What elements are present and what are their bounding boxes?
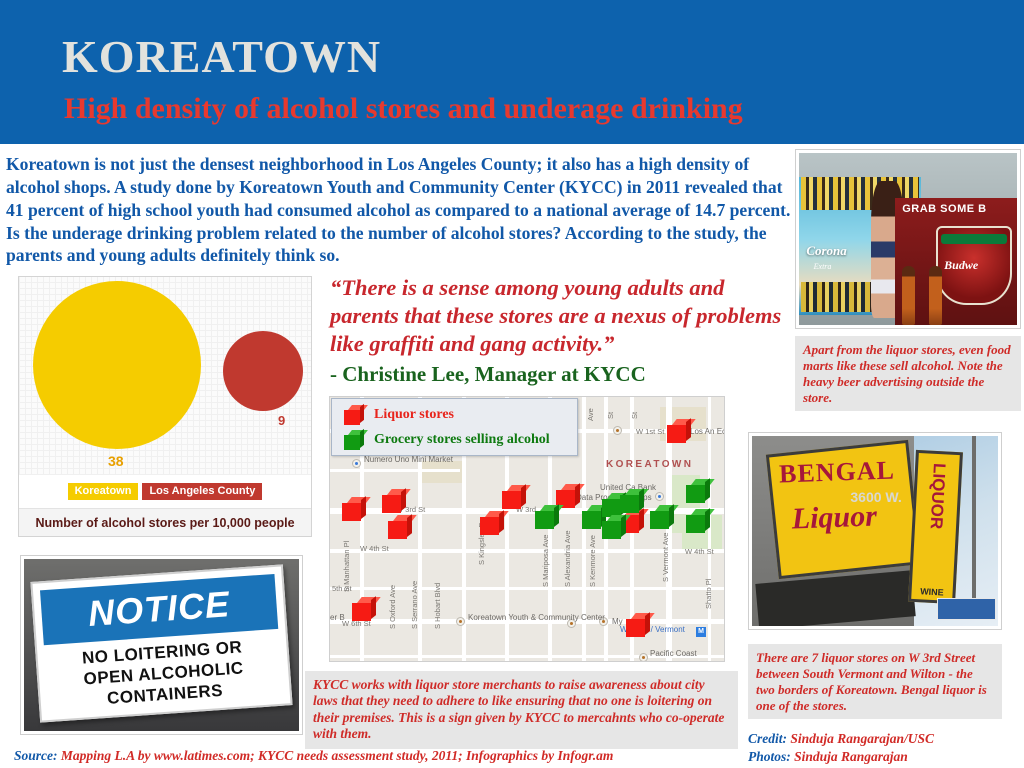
alcohol-stores-bubble-chart: 38 9 Koreatown Los Angeles County Number… [18,276,312,537]
sign-pole [972,436,976,599]
map-marker-liquor-store[interactable] [388,515,412,539]
photo-caption-bengal: There are 7 liquor stores on W 3rd Stree… [748,644,1002,719]
map-legend: Liquor stores Grocery stores selling alc… [331,398,578,456]
beer-bottle [929,266,942,325]
notice-sign-lines: NO LOITERING OR OPEN ALCOHOLIC CONTAINER… [44,631,282,716]
photo-caption-beer: Apart from the liquor stores, even food … [795,336,1021,411]
credit-block: Credit: Sinduja Rangarajan/USC Photos: S… [748,730,934,766]
metro-station-badge[interactable]: M [696,627,706,637]
credit-line: Credit: Sinduja Rangarajan/USC [748,730,934,748]
map-marker-liquor-store[interactable] [626,613,650,637]
map-street-label-s-vermont-ave: S Vermont Ave [661,533,670,582]
map-legend-item-grocery: Grocery stores selling alcohol [344,430,550,450]
map-marker-grocery-store[interactable] [650,505,674,529]
map-street-label-ave: Ave [586,408,595,421]
photo-beer-advertising: Corona Extra GRAB SOME B Budwe [795,149,1021,329]
map-poi-label-numero-uno: Numero Uno Mini Market [364,455,453,464]
map-legend-item-liquor: Liquor stores [344,405,454,425]
photos-credit-line: Photos: Sinduja Rangarajan [748,748,934,766]
intro-paragraph: Koreatown is not just the densest neighb… [6,153,792,267]
bubble-los-angeles-county [223,331,303,411]
chart-legend: Koreatown Los Angeles County [19,477,311,505]
bubble-value-los-angeles-county: 9 [278,413,285,428]
map-poi-dot[interactable] [655,492,664,501]
map-marker-liquor-store[interactable] [382,489,406,513]
map-poi-label-er-b: er B [330,613,345,622]
map-street-label-s-kenmore-ave: S Kenmore Ave [588,535,597,587]
map-road [330,469,460,472]
map-street-label-w-4th-st: W 4th St [360,544,389,553]
photo-notice-sign: NOTICE NO LOITERING OR OPEN ALCOHOLIC CO… [20,555,303,735]
map-marker-grocery-store[interactable] [686,509,710,533]
photos-credit-text: Sinduja Rangarajan [791,749,908,764]
map-poi-dot[interactable] [613,426,622,435]
map-legend-label-grocery: Grocery stores selling alcohol [374,432,550,448]
budweiser-wordmark: Budwe [944,258,978,273]
photo-bengal-liquor: BENGAL Liquor 3600 W. LIQUOR WINE [748,432,1002,630]
budweiser-billboard: GRAB SOME B Budwe [895,198,1017,325]
map-poi-label-pacific-coast: Pacific Coast [650,649,697,658]
budweiser-shield-logo: Budwe [936,226,1012,305]
bubble-koreatown [33,281,201,449]
map-poi-label-kycc: Koreatown Youth & Community Center [468,613,605,622]
map-street-label-shatto-pl: Shatto Pl [704,579,713,609]
chart-legend-item-koreatown: Koreatown [68,483,139,500]
map-street-label-s-manhattan-pl: S Manhattan Pl [342,541,351,592]
map-street-label-w-1st-st: W 1st St [636,427,664,436]
page-subtitle: High density of alcohol stores and under… [64,92,743,126]
credit-label: Credit: [748,731,787,746]
map-road-s-mariposa-ave [582,397,586,662]
map-marker-liquor-store[interactable] [342,497,366,521]
map-block-tan [422,461,464,483]
bengal-liquor-sign: BENGAL Liquor [766,440,921,580]
credit-text: Sinduja Rangarajan/USC [787,731,934,746]
chart-caption: Number of alcohol stores per 10,000 peop… [19,508,311,536]
map-neighborhood-label: KOREATOWN [606,459,693,470]
map-poi-label-los-angeles-eco-village: Los An Eco-Vi [690,427,725,436]
source-label: Source: [14,748,58,763]
map-poi-dot[interactable] [456,617,465,626]
header-banner: KOREATOWN High density of alcohol stores… [0,0,1024,144]
photo-notice-image: NOTICE NO LOITERING OR OPEN ALCOHOLIC CO… [24,559,299,731]
map-street-label-s-hobart-blvd: S Hobart Blvd [433,583,442,629]
map-street-label-st: St [606,412,615,419]
beer-bottle [902,266,915,325]
quote-text: “There is a sense among young adults and… [330,274,790,358]
chart-plot-area: 38 9 [19,277,311,475]
map-poi-dot[interactable] [352,459,361,468]
photo-bengal-image: BENGAL Liquor 3600 W. LIQUOR WINE [752,436,998,626]
source-text: Mapping L.A by www.latimes.com; KYCC nee… [58,748,614,763]
street-name-sign [937,598,996,621]
map-marker-liquor-store[interactable] [352,597,376,621]
map-marker-grocery-store[interactable] [602,515,626,539]
pull-quote: “There is a sense among young adults and… [330,274,790,387]
photo-caption-notice: KYCC works with liquor store merchants t… [305,671,738,749]
grab-some-buds-headline: GRAB SOME B [902,203,986,215]
map-street-label-s-oxford-ave: S Oxford Ave [388,585,397,629]
page-title: KOREATOWN [62,30,381,83]
grocery-store-marker-icon [344,430,364,450]
map-poi-dot[interactable] [639,653,648,662]
blade-sign-liquor-text: LIQUOR [927,463,947,530]
blade-sign: LIQUOR WINE [908,450,963,604]
map-marker-grocery-store[interactable] [535,505,559,529]
map-street-label-w-4th-st-right: W 4th St [685,547,714,556]
map-marker-grocery-store[interactable] [686,479,710,503]
world-cup-band [941,234,1007,244]
photos-label: Photos: [748,749,791,764]
street-address-number: 3600 W. [850,489,901,505]
photo-beer-image: Corona Extra GRAB SOME B Budwe [799,153,1017,325]
map-marker-grocery-store[interactable] [620,489,644,513]
map-street-label-st-2: St [630,412,639,419]
blade-sign-wine-text: WINE [920,587,944,598]
liquor-store-marker-icon [344,405,364,425]
bengal-wordmark: BENGAL [778,456,895,490]
liquor-wordmark: Liquor [791,500,877,537]
notice-sign-board: NOTICE NO LOITERING OR OPEN ALCOHOLIC CO… [30,564,292,722]
chart-legend-item-los-angeles-county: Los Angeles County [142,483,262,500]
corona-extra-wordmark: Extra [814,262,832,271]
map-street-label-s-serrano-ave: S Serrano Ave [410,581,419,629]
corona-wordmark: Corona [806,243,846,259]
map-street-label-s-mariposa-ave: S Mariposa Ave [541,535,550,587]
map-legend-label-liquor: Liquor stores [374,407,454,423]
liquor-store-map[interactable]: M KOREATOWN W 1st St W 3rd St W 3rd W 4t… [329,396,725,662]
bubble-value-koreatown: 38 [108,453,124,469]
map-marker-liquor-store[interactable] [502,485,526,509]
map-street-label-s-alexandria-ave: S Alexandria Ave [563,530,572,587]
notice-banner-text: NOTICE [87,583,232,635]
quote-attribution: - Christine Lee, Manager at KYCC [330,362,790,387]
map-marker-liquor-store[interactable] [480,511,504,535]
source-line: Source: Mapping L.A by www.latimes.com; … [14,748,613,764]
map-marker-liquor-store[interactable] [667,419,691,443]
